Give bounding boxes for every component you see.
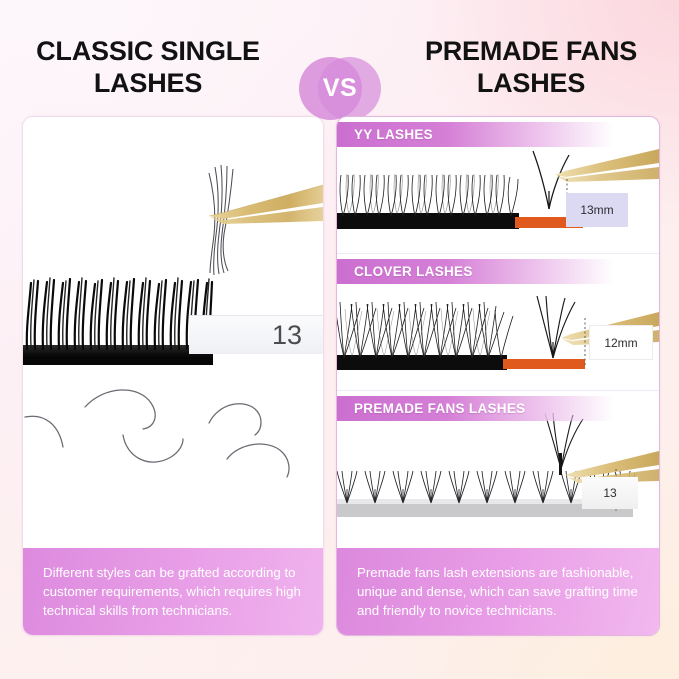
- classic-lashes-media: 13: [23, 117, 323, 525]
- classic-single-lashes-card: 13 Different styles can be grafted accor…: [22, 116, 324, 636]
- measurement-premade-fans-lashes: 13: [582, 477, 638, 509]
- measurement-clover-lashes: 12mm: [589, 325, 653, 360]
- vs-badge: VS: [299, 57, 381, 120]
- right-caption: Premade fans lash extensions are fashion…: [337, 548, 659, 635]
- clover-single-fan: [537, 296, 575, 358]
- vs-label: VS: [299, 57, 381, 120]
- premade-single-fan: [545, 413, 583, 469]
- section-label-clover-lashes: CLOVER LASHES: [337, 259, 659, 284]
- section-label-yy-lashes: YY LASHES: [337, 122, 659, 147]
- section-label-premade-fans-lashes: PREMADE FANS LASHES: [337, 396, 659, 421]
- section-premade-fans-lashes: PREMADE FANS LASHES 13: [337, 390, 659, 528]
- page-title-right: PREMADE FANS LASHES: [391, 22, 671, 114]
- page-title-left: CLASSIC SINGLE LASHES: [8, 22, 288, 114]
- infographic-canvas: CLASSIC SINGLE LASHES VS PREMADE FANS LA…: [0, 0, 679, 679]
- classic-lash-strip: [23, 278, 213, 365]
- header: CLASSIC SINGLE LASHES VS PREMADE FANS LA…: [0, 22, 679, 114]
- section-yy-lashes: YY LASHES 13mm: [337, 117, 659, 253]
- left-caption: Different styles can be grafted accordin…: [23, 548, 323, 635]
- ruler-value: 13: [259, 317, 315, 353]
- measurement-yy-lashes: 13mm: [566, 193, 628, 227]
- section-clover-lashes: CLOVER LASHES 12mm: [337, 253, 659, 391]
- lash-curl-arcs: [25, 390, 289, 477]
- premade-fans-lashes-card: YY LASHES 13mm: [336, 116, 660, 636]
- tweezer: [555, 149, 659, 182]
